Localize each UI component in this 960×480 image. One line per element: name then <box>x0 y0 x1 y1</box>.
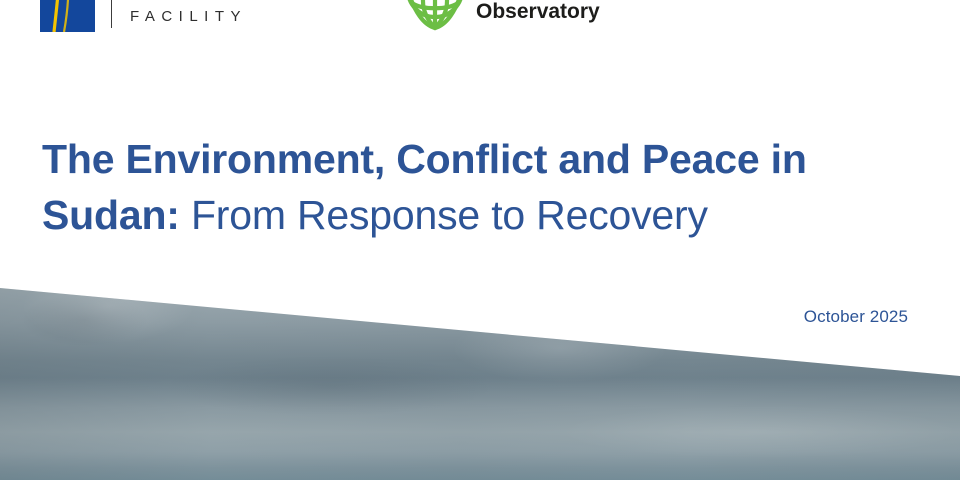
logo-divider <box>111 0 112 28</box>
title-line-1-text: The Environment, Conflict and Peace in <box>42 136 807 182</box>
environment-observatory-logo: Environment Observatory <box>404 0 604 36</box>
eo-globe-icon <box>404 0 466 32</box>
cover-page: ENVIRONMENT FACILITY <box>0 0 960 480</box>
eo-word-observatory: Observatory <box>476 1 604 22</box>
gef-logo: ENVIRONMENT FACILITY <box>40 0 312 32</box>
page-title: The Environment, Conflict and Peace in S… <box>42 131 932 243</box>
gef-wordmark: ENVIRONMENT FACILITY <box>130 0 312 32</box>
gef-globe-mark <box>40 0 95 32</box>
publication-date: October 2025 <box>804 307 908 327</box>
title-subject: Sudan: <box>42 192 180 238</box>
title-line-1: The Environment, Conflict and Peace in <box>42 131 932 187</box>
gef-word-facility: FACILITY <box>130 1 312 32</box>
logo-band: ENVIRONMENT FACILITY <box>0 0 960 42</box>
title-subtitle: From Response to Recovery <box>180 192 708 238</box>
title-line-2: Sudan: From Response to Recovery <box>42 187 932 243</box>
eo-wordmark: Environment Observatory <box>476 0 604 34</box>
